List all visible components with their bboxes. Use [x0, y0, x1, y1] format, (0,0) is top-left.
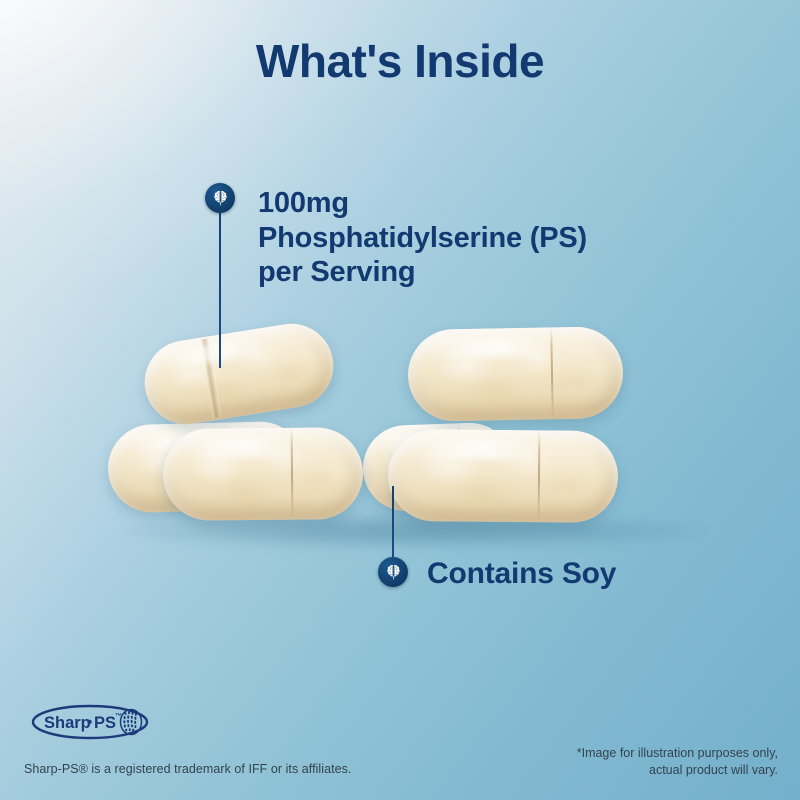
- illustration-disclaimer-line-2: actual product will vary.: [448, 762, 778, 779]
- callout-ps-line-2: Phosphatidylserine (PS): [258, 221, 587, 256]
- callout-ps-dose: 100mg Phosphatidylserine (PS) per Servin…: [258, 186, 587, 290]
- callout-leader-line-ps: [219, 212, 221, 368]
- trademark-note: Sharp-PS® is a registered trademark of I…: [24, 762, 351, 776]
- illustration-disclaimer-line-1: *Image for illustration purposes only,: [448, 745, 778, 762]
- logo-wordmark: Sharp: [44, 714, 91, 732]
- callout-ps-line-1: 100mg: [258, 186, 587, 221]
- page-title: What's Inside: [0, 36, 800, 87]
- capsule-highlight: [411, 439, 540, 459]
- logo-separator: •: [87, 714, 92, 731]
- product-infographic: What's Inside: [0, 0, 800, 800]
- brain-icon: [205, 183, 235, 213]
- callout-soy-line-1: Contains Soy: [427, 556, 616, 591]
- capsule: [139, 318, 340, 431]
- capsule: [388, 429, 619, 523]
- capsule: [407, 326, 624, 422]
- callout-contains-soy: Contains Soy: [427, 556, 616, 591]
- capsule: [163, 427, 364, 521]
- capsule-highlight: [183, 438, 295, 457]
- logo-brain-mark: [121, 710, 142, 735]
- capsule-fill-texture: [149, 324, 329, 424]
- callout-leader-line-soy: [392, 486, 394, 562]
- illustration-disclaimer: *Image for illustration purposes only, a…: [448, 745, 778, 779]
- sharp-ps-logo: Sharp • PS ™: [30, 700, 150, 744]
- callout-ps-line-3: per Serving: [258, 255, 587, 290]
- logo-suffix: PS: [94, 714, 116, 732]
- brain-icon: [378, 557, 408, 587]
- capsule-highlight: [429, 338, 550, 358]
- capsule-pile-image: [108, 318, 708, 548]
